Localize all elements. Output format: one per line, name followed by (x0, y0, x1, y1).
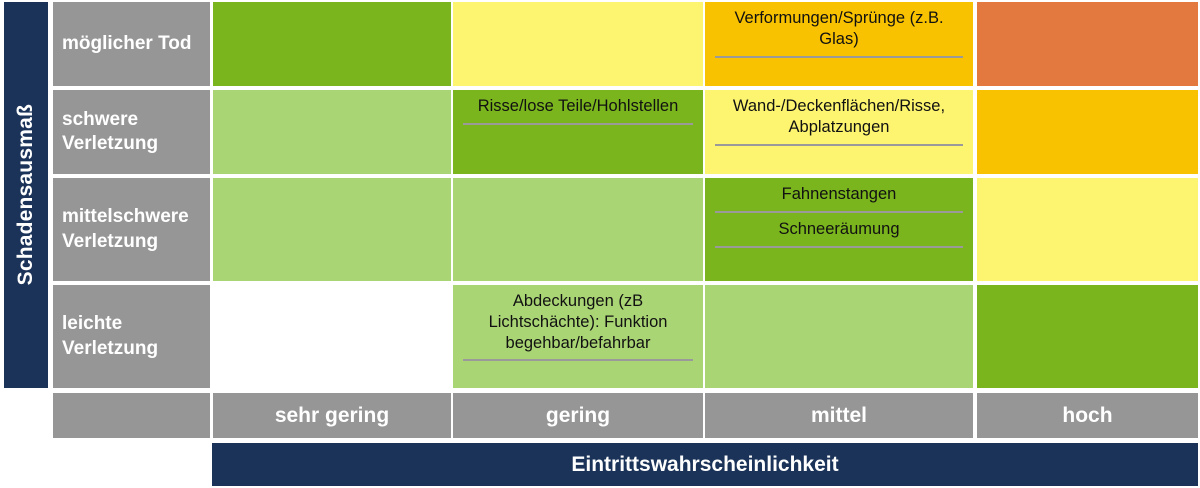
matrix-cell[interactable] (213, 178, 451, 281)
matrix-cell[interactable] (705, 285, 973, 388)
x-axis-title: Eintrittswahrscheinlichkeit (212, 443, 1198, 486)
entry-divider (715, 246, 963, 248)
risk-matrix: Schadensausmaß möglicher Todschwere Verl… (0, 0, 1200, 488)
column-header-text: mittel (811, 404, 867, 428)
cell-entry: Schneeräumung (713, 219, 965, 243)
cell-entry: Fahnenstangen (713, 184, 965, 208)
matrix-cell[interactable] (213, 2, 451, 86)
column-header-text: gering (546, 404, 610, 428)
entry-divider (715, 56, 963, 58)
cell-entry: Risse/lose Teile/Hohlstellen (461, 96, 695, 120)
entry-divider (463, 123, 693, 125)
entry-divider (715, 211, 963, 213)
matrix-cell[interactable]: Abdeckungen (zB Lichtschächte): Funktion… (453, 285, 703, 388)
column-header: sehr gering (213, 393, 451, 438)
x-axis-title-label: Eintrittswahrscheinlichkeit (571, 453, 838, 477)
entry-divider (715, 144, 963, 146)
entry-divider (463, 359, 693, 361)
matrix-cell[interactable]: Risse/lose Teile/Hohlstellen (453, 90, 703, 174)
matrix-cell[interactable] (977, 90, 1198, 174)
matrix-cell[interactable] (453, 178, 703, 281)
matrix-cell[interactable]: FahnenstangenSchneeräumung (705, 178, 973, 281)
matrix-cell[interactable] (977, 2, 1198, 86)
column-header: gering (453, 393, 703, 438)
column-header: hoch (977, 393, 1198, 438)
column-header-row: sehr geringgeringmittelhoch (0, 393, 1200, 438)
matrix-cell[interactable]: Verformungen/Sprünge (z.B. Glas) (705, 2, 973, 86)
matrix-cell[interactable] (213, 285, 451, 388)
column-header-text: sehr gering (275, 404, 389, 428)
column-header-text: hoch (1062, 404, 1112, 428)
cell-entry: Verformungen/Sprünge (z.B. Glas) (713, 8, 965, 53)
column-header: mittel (705, 393, 973, 438)
matrix-cell[interactable] (977, 285, 1198, 388)
matrix-cell[interactable]: Wand-/Deckenflächen/Risse, Abplatzungen (705, 90, 973, 174)
matrix-grid: Verformungen/Sprünge (z.B. Glas)Risse/lo… (0, 0, 1200, 390)
matrix-cell[interactable] (213, 90, 451, 174)
cell-entry: Wand-/Deckenflächen/Risse, Abplatzungen (713, 96, 965, 141)
matrix-cell[interactable] (453, 2, 703, 86)
cell-entry: Abdeckungen (zB Lichtschächte): Funktion… (461, 291, 695, 356)
matrix-cell[interactable] (977, 178, 1198, 281)
